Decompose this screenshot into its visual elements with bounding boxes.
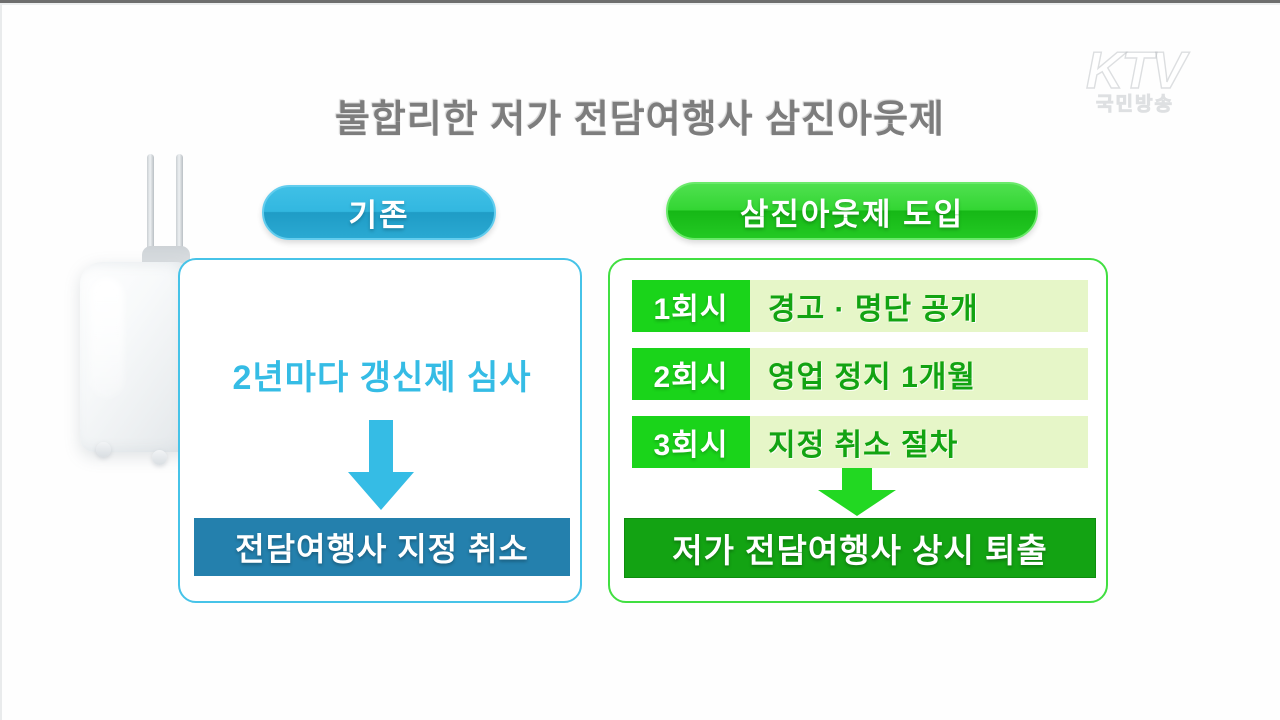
- step-badge: 1회시: [632, 280, 750, 332]
- step-text: 영업 정지 1개월: [750, 348, 1088, 400]
- panel-existing: 2년마다 갱신제 심사 전담여행사 지정 취소: [178, 258, 582, 603]
- down-arrow-icon: [348, 420, 414, 510]
- suitcase-highlight: [90, 278, 124, 398]
- step-text: 지정 취소 절차: [750, 416, 1088, 468]
- existing-headline: 2년마다 갱신제 심사: [180, 350, 584, 399]
- step-row: 2회시 영업 정지 1개월: [632, 348, 1088, 400]
- step-badge: 3회시: [632, 416, 750, 468]
- suitcase-wheel-back: [152, 450, 167, 465]
- step-row: 3회시 지정 취소 절차: [632, 416, 1088, 468]
- step-row: 1회시 경고 · 명단 공개: [632, 280, 1088, 332]
- label-existing-scheme: 기존: [262, 185, 496, 240]
- down-arrow-icon: [818, 468, 896, 516]
- step-badge: 2회시: [632, 348, 750, 400]
- three-strikes-result: 저가 전담여행사 상시 퇴출: [624, 518, 1096, 578]
- panel-three-strikes: 1회시 경고 · 명단 공개 2회시 영업 정지 1개월 3회시 지정 취소 절…: [608, 258, 1108, 603]
- page-title: 불합리한 저가 전담여행사 삼진아웃제: [0, 88, 1280, 143]
- infographic-stage: KTV 국민방송 불합리한 저가 전담여행사 삼진아웃제 기존 삼진아웃제 도입…: [0, 0, 1280, 720]
- step-text: 경고 · 명단 공개: [750, 280, 1088, 332]
- existing-result: 전담여행사 지정 취소: [194, 518, 570, 576]
- label-three-strikes-scheme: 삼진아웃제 도입: [666, 182, 1038, 240]
- suitcase-wheel-front: [96, 442, 111, 457]
- top-hairline: [0, 3, 1280, 5]
